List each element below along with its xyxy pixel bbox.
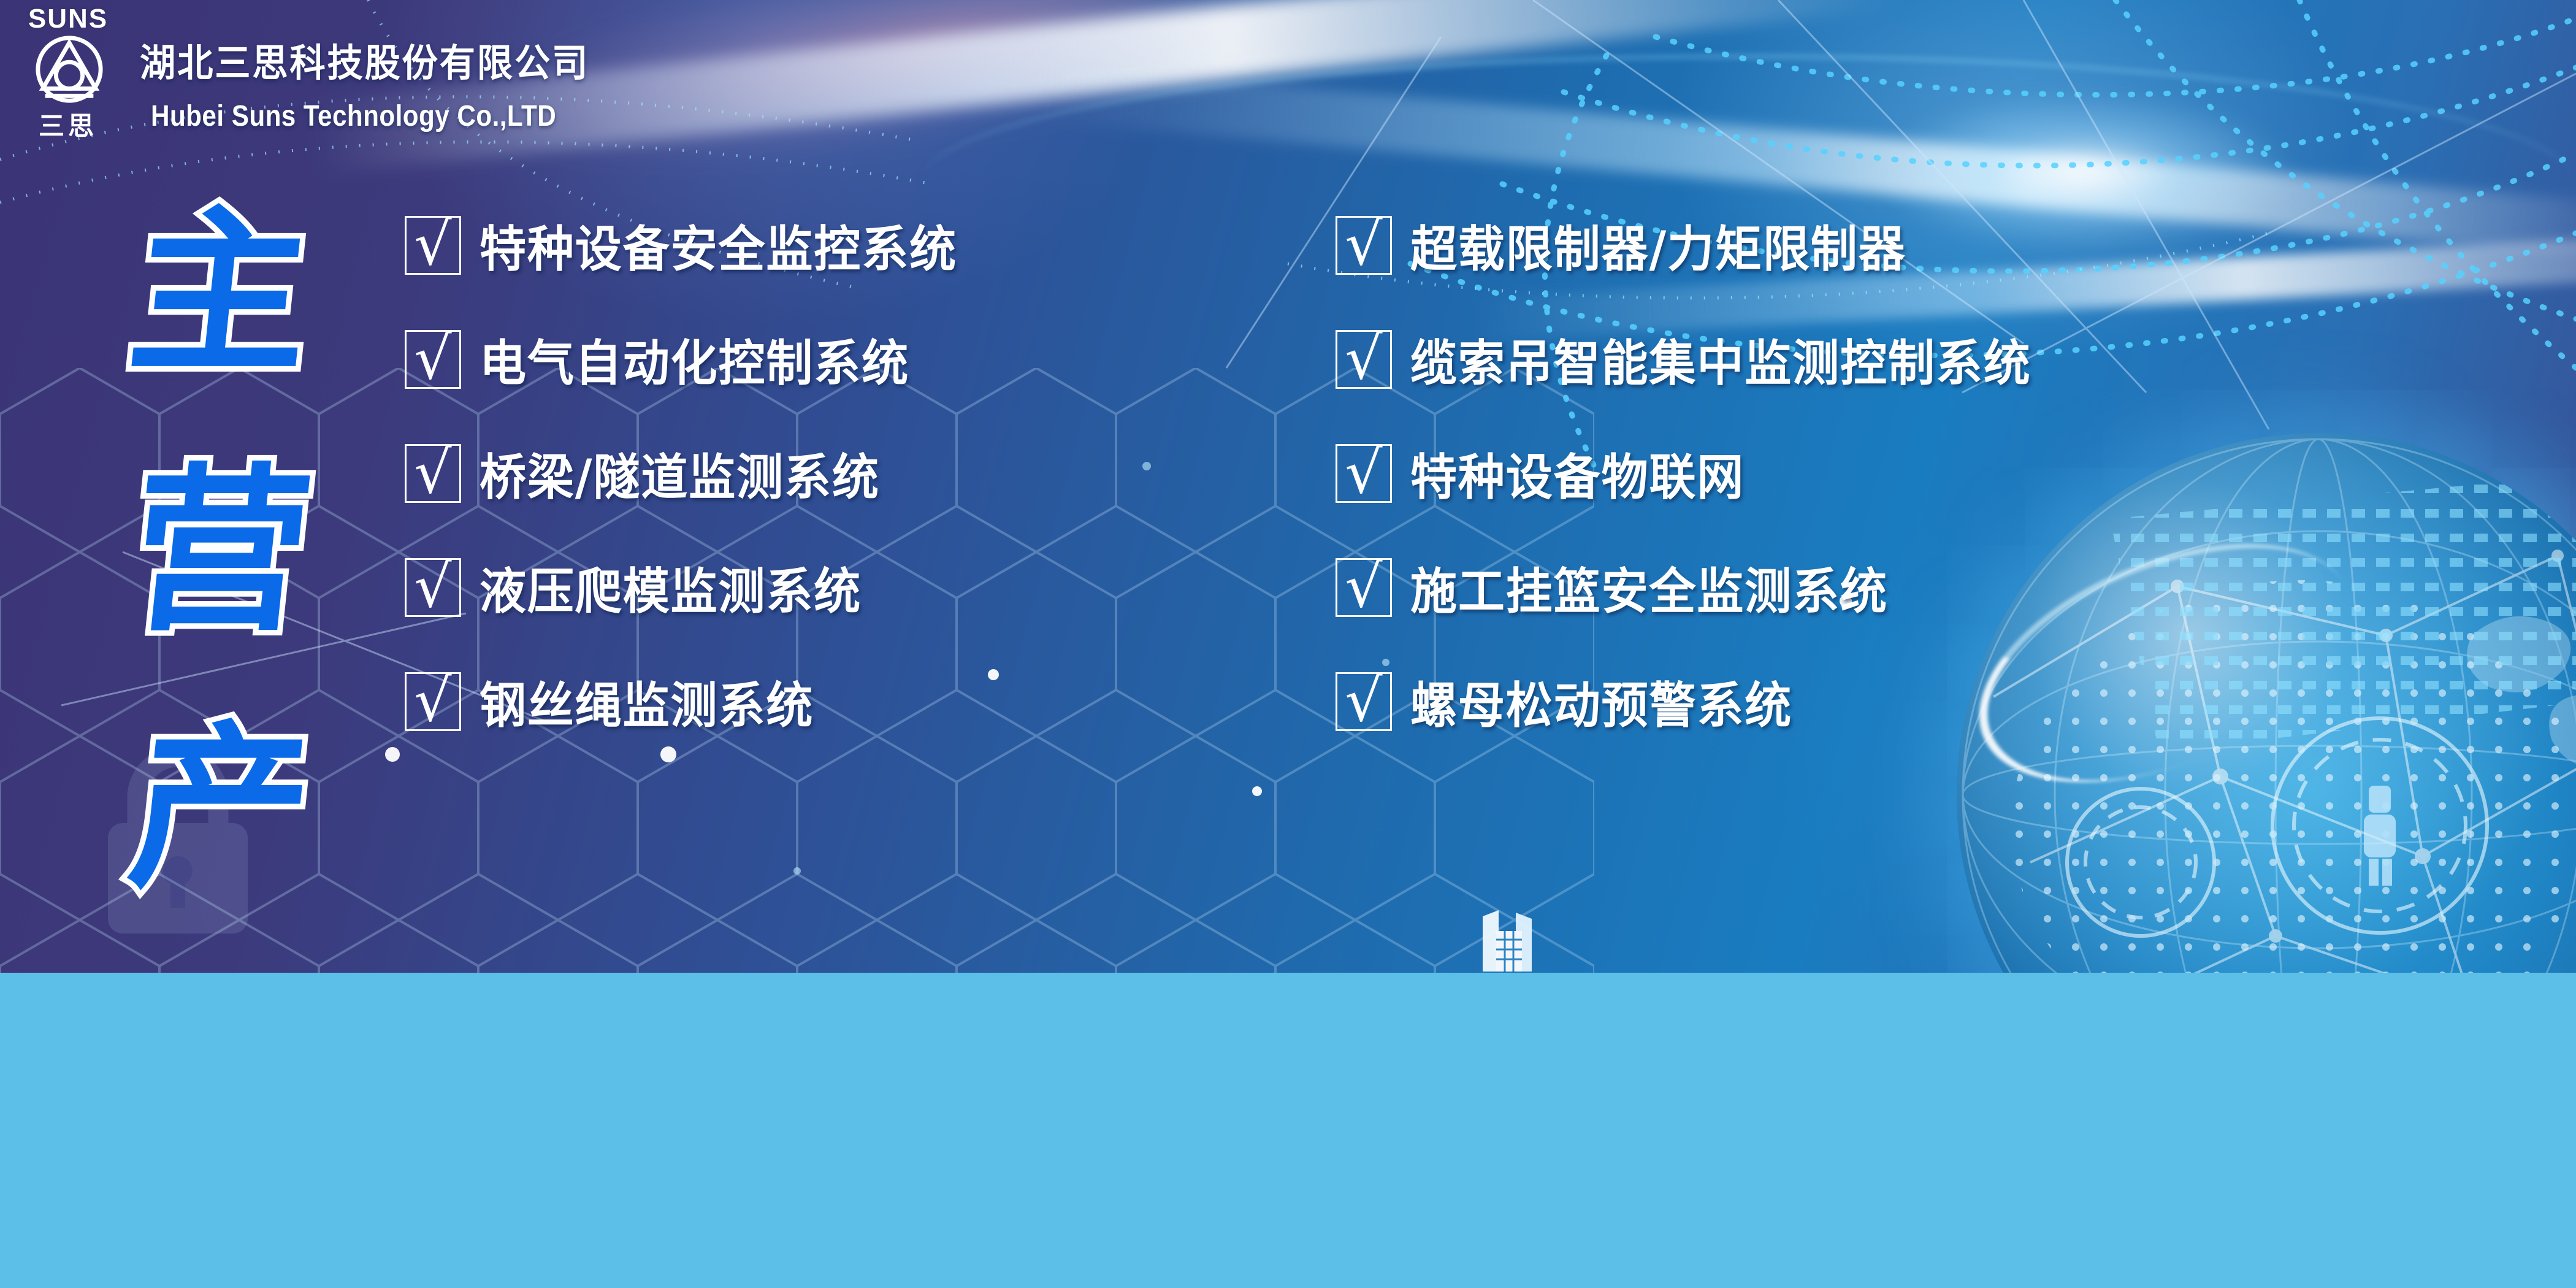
product-list: √ 特种设备安全监控系统 √ 电气自动化控制系统 √ 桥梁/隧道监测系统 √ 液… bbox=[0, 0, 2576, 973]
product-label: 特种设备物联网 bbox=[1410, 438, 1745, 509]
product-item[interactable]: √ 特种设备物联网 bbox=[1336, 443, 2292, 504]
product-label: 钢丝绳监测系统 bbox=[480, 666, 814, 737]
check-glyph: √ bbox=[414, 329, 451, 388]
product-label: 特种设备安全监控系统 bbox=[480, 210, 957, 281]
checkbox-icon[interactable]: √ bbox=[405, 444, 461, 503]
product-item[interactable]: √ 超载限制器/力矩限制器 bbox=[1336, 215, 2292, 276]
check-glyph: √ bbox=[414, 215, 451, 274]
checkbox-icon[interactable]: √ bbox=[1336, 330, 1392, 389]
checkbox-icon[interactable]: √ bbox=[1336, 216, 1392, 275]
product-item[interactable]: √ 施工挂篮安全监测系统 bbox=[1336, 557, 2292, 618]
bottom-panel bbox=[0, 973, 2576, 1288]
product-item[interactable]: √ 液压爬模监测系统 bbox=[405, 557, 1275, 618]
product-label: 缆索吊智能集中监测控制系统 bbox=[1410, 324, 2031, 395]
product-label: 超载限制器/力矩限制器 bbox=[1410, 210, 1906, 281]
check-glyph: √ bbox=[1345, 671, 1382, 730]
product-item[interactable]: √ 特种设备安全监控系统 bbox=[405, 215, 1275, 276]
checkbox-icon[interactable]: √ bbox=[1336, 558, 1392, 617]
product-item[interactable]: √ 电气自动化控制系统 bbox=[405, 329, 1275, 390]
product-item[interactable]: √ 螺母松动预警系统 bbox=[1336, 671, 2292, 732]
check-glyph: √ bbox=[1345, 329, 1382, 388]
checkbox-icon[interactable]: √ bbox=[1336, 672, 1392, 731]
product-label: 液压爬模监测系统 bbox=[480, 552, 862, 623]
product-label: 桥梁/隧道监测系统 bbox=[480, 438, 880, 509]
checkbox-icon[interactable]: √ bbox=[405, 558, 461, 617]
product-item[interactable]: √ 钢丝绳监测系统 bbox=[405, 671, 1275, 732]
checkbox-icon[interactable]: √ bbox=[405, 672, 461, 731]
product-label: 螺母松动预警系统 bbox=[1410, 666, 1792, 737]
product-item[interactable]: √ 桥梁/隧道监测系统 bbox=[405, 443, 1275, 504]
checkbox-icon[interactable]: √ bbox=[405, 216, 461, 275]
check-glyph: √ bbox=[1345, 557, 1382, 616]
product-column-right: √ 超载限制器/力矩限制器 √ 缆索吊智能集中监测控制系统 √ 特种设备物联网 … bbox=[1336, 215, 2292, 785]
checkbox-icon[interactable]: √ bbox=[405, 330, 461, 389]
checkbox-icon[interactable]: √ bbox=[1336, 444, 1392, 503]
check-glyph: √ bbox=[1345, 215, 1382, 274]
check-glyph: √ bbox=[414, 557, 451, 616]
product-column-left: √ 特种设备安全监控系统 √ 电气自动化控制系统 √ 桥梁/隧道监测系统 √ 液… bbox=[405, 215, 1275, 785]
check-glyph: √ bbox=[414, 443, 451, 502]
product-label: 电气自动化控制系统 bbox=[480, 324, 909, 395]
product-item[interactable]: √ 缆索吊智能集中监测控制系统 bbox=[1336, 329, 2292, 390]
check-glyph: √ bbox=[1345, 443, 1382, 502]
product-label: 施工挂篮安全监测系统 bbox=[1410, 552, 1888, 623]
check-glyph: √ bbox=[414, 671, 451, 730]
promo-banner: SUNS 三思 湖北三思科技股份有限公司 Hubei Suns Technolo… bbox=[0, 0, 2576, 973]
